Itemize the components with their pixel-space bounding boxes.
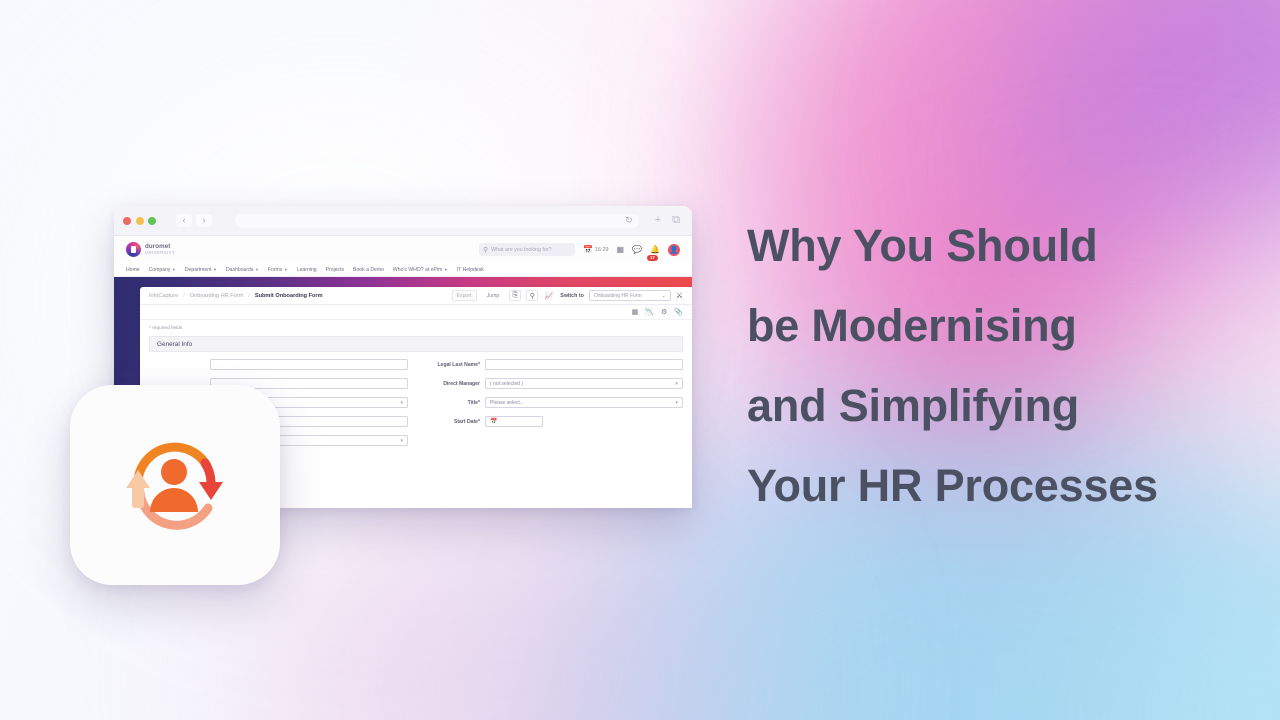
nav-item-it-helpdesk[interactable]: IT Helpdesk [457, 267, 484, 273]
title-select[interactable]: Please select... ▾ [485, 397, 683, 408]
logo-text: duromet UNIVERSITY [145, 244, 175, 255]
breadcrumb-parent[interactable]: Onboarding HR Form [190, 293, 243, 299]
chevron-down-icon: ▾ [401, 400, 403, 406]
nav-label: Company [149, 267, 171, 273]
field-label: Title* [424, 400, 480, 406]
clock-label: 16:29 [595, 247, 609, 253]
forward-icon[interactable]: › [195, 213, 213, 228]
infocapture-toolbar: InfoCapture / Onboarding HR Form / Submi… [140, 287, 692, 305]
grid-icon[interactable]: ▦ [617, 246, 625, 254]
headline-line-3: and Simplifying [747, 366, 1247, 446]
form-row: Start Date* 📅 [424, 416, 683, 427]
nav-label: Who's WHO? at ePim [393, 267, 442, 273]
form-row: Legal Last Name* [424, 359, 683, 370]
chevron-down-icon: ⌄ [662, 293, 666, 299]
form-view-icon-row: ▦ 📉 ⚙ 📎 [140, 305, 692, 320]
headline-line-1: Why You Should [747, 206, 1247, 286]
form-section-header: General Info [149, 336, 683, 352]
minimize-window-button[interactable] [136, 217, 144, 225]
form-row: Title* Please select... ▾ [424, 397, 683, 408]
header-clock[interactable]: 📅 16:29 [583, 246, 608, 254]
tab-overview-icon[interactable]: ⧉ [672, 215, 680, 226]
nav-label: Learning [297, 267, 317, 273]
nav-label: Projects [326, 267, 344, 273]
back-icon[interactable]: ‹ [175, 213, 193, 228]
maximize-window-button[interactable] [148, 217, 156, 225]
logo-line-2: UNIVERSITY [145, 251, 175, 255]
browser-nav-buttons: ‹ › [175, 213, 213, 228]
nav-item-dashboards[interactable]: Dashboards▼ [226, 267, 259, 273]
nav-item-company[interactable]: Company▼ [149, 267, 176, 273]
notification-badge: 17 [647, 255, 658, 261]
page-title: Why You Should be Modernising and Simpli… [747, 206, 1247, 526]
arrow-tail-left [132, 486, 144, 508]
nav-label: Forms [268, 267, 282, 273]
nav-item-home[interactable]: Home [126, 267, 140, 273]
browser-chrome-actions: + ⧉ [655, 215, 683, 226]
employee-onboarding-cycle-icon [105, 420, 245, 550]
calendar-icon: 📅 [583, 246, 593, 254]
title-value: Please select... [490, 400, 524, 406]
attachment-icon[interactable]: 📎 [674, 309, 683, 316]
calendar-icon: 📅 [490, 418, 497, 425]
chevron-down-icon: ▼ [444, 267, 448, 272]
chevron-down-icon: ▼ [213, 267, 217, 272]
chevron-down-icon: ▾ [676, 400, 678, 406]
nav-item-projects[interactable]: Projects [326, 267, 344, 273]
chart-icon[interactable]: 📈 [543, 290, 555, 301]
chevron-down-icon: ▼ [172, 267, 176, 272]
tools-icon[interactable]: ⚔ [676, 291, 683, 300]
search-icon: ⚲ [483, 246, 488, 254]
nav-label: Home [126, 267, 140, 273]
reload-icon[interactable]: ↻ [625, 216, 633, 225]
search-placeholder: What are you looking for? [491, 247, 551, 253]
table-view-icon[interactable]: ▦ [632, 309, 639, 316]
breadcrumb-root[interactable]: InfoCapture [149, 293, 178, 299]
close-window-button[interactable] [123, 217, 131, 225]
search-icon[interactable]: ⚲ [526, 290, 538, 301]
browser-chrome: ‹ › ↻ + ⧉ [114, 206, 692, 236]
breadcrumb-current: Submit Onboarding Form [255, 293, 323, 299]
switch-to-select[interactable]: Onboarding HR Form ⌄ [589, 290, 671, 301]
legal-last-name-input[interactable] [485, 359, 683, 370]
person-head-icon [161, 459, 187, 485]
settings-gear-icon[interactable]: ⚙ [661, 309, 667, 316]
breadcrumb-separator: / [248, 293, 250, 299]
site-navigation: Home Company▼ Department▼ Dashboards▼ Fo… [114, 263, 692, 277]
legal-first-name-input[interactable] [210, 359, 408, 370]
nav-item-department[interactable]: Department▼ [185, 267, 217, 273]
site-header: duromet UNIVERSITY ⚲ What are you lookin… [114, 236, 692, 263]
user-avatar-icon[interactable]: 👤 [668, 244, 680, 256]
analytics-icon[interactable]: 📉 [645, 309, 654, 316]
form-row [149, 359, 408, 370]
url-input[interactable]: ↻ [234, 213, 640, 229]
field-label: Start Date* [424, 419, 480, 425]
app-icon-tile [70, 385, 280, 585]
nav-item-forms[interactable]: Forms▼ [268, 267, 288, 273]
arrow-head-up-icon [126, 470, 150, 488]
chevron-down-icon: ▼ [284, 267, 288, 272]
required-fields-note: * required fields [149, 326, 683, 331]
window-traffic-lights [123, 217, 156, 225]
nav-label: Book a Demo [353, 267, 384, 273]
chevron-down-icon: ▼ [255, 267, 259, 272]
field-label: Legal Last Name* [424, 362, 480, 368]
chevron-down-icon: ▾ [676, 381, 678, 387]
arrow-arc-right [205, 463, 211, 482]
nav-label: Department [185, 267, 212, 273]
headline-line-2: be Modernising [747, 286, 1247, 366]
external-link-icon[interactable]: ⎘ [509, 290, 521, 301]
bell-icon[interactable]: 🔔 17 [650, 246, 660, 254]
new-tab-icon[interactable]: + [655, 215, 661, 226]
switch-to-label: Switch to [560, 293, 584, 299]
jump-button[interactable]: Jump [482, 290, 505, 301]
chevron-down-icon: ▾ [401, 438, 403, 444]
direct-manager-select[interactable]: ( not selected ) ▾ [485, 378, 683, 389]
logo-mark-icon [126, 242, 141, 257]
start-date-input[interactable]: 📅 [485, 416, 543, 427]
switch-to-value: Onboarding HR Form [594, 293, 642, 299]
nav-item-learning[interactable]: Learning [297, 267, 317, 273]
site-logo[interactable]: duromet UNIVERSITY [126, 242, 175, 257]
form-row: Direct Manager ( not selected ) ▾ [424, 378, 683, 389]
breadcrumb-separator: / [183, 293, 185, 299]
field-label: Direct Manager [424, 381, 480, 387]
person-body-icon [150, 488, 198, 512]
nav-label: IT Helpdesk [457, 267, 484, 273]
nav-item-whos-who[interactable]: Who's WHO? at ePim▼ [393, 267, 448, 273]
site-search-input[interactable]: ⚲ What are you looking for? [479, 243, 575, 256]
nav-label: Dashboards [226, 267, 253, 273]
chat-icon[interactable]: 💬 [632, 246, 642, 254]
headline-line-4: Your HR Processes [747, 446, 1247, 526]
export-button[interactable]: Export [452, 290, 477, 301]
nav-item-book-a-demo[interactable]: Book a Demo [353, 267, 384, 273]
arrow-head-down-icon [199, 482, 223, 500]
direct-manager-value: ( not selected ) [490, 381, 523, 387]
